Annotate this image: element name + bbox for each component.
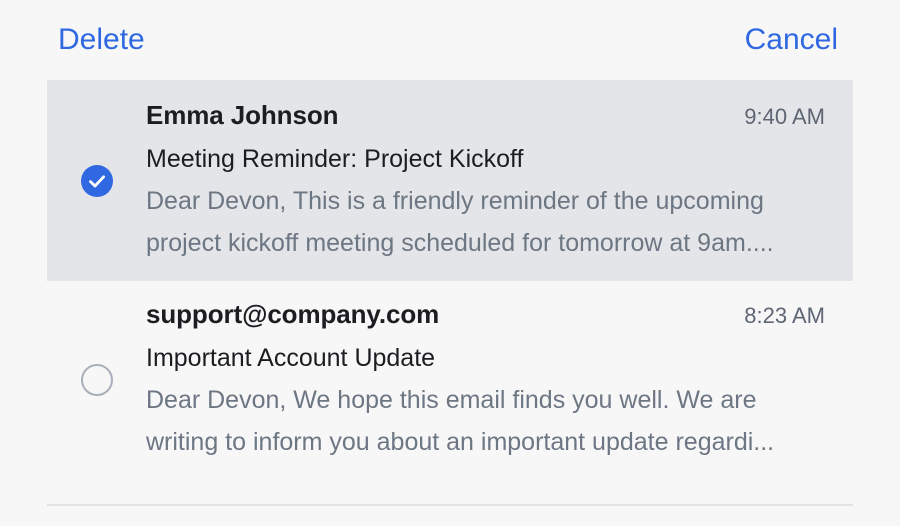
toolbar: Delete Cancel bbox=[0, 0, 900, 80]
selection-control-wrap bbox=[47, 165, 146, 197]
message-list-item[interactable]: Emma Johnson 9:40 AM Meeting Reminder: P… bbox=[47, 80, 853, 281]
message-time: 8:23 AM bbox=[726, 301, 853, 331]
list-divider bbox=[47, 504, 853, 506]
message-content: Emma Johnson 9:40 AM Meeting Reminder: P… bbox=[146, 98, 853, 264]
circle-outline-icon[interactable] bbox=[81, 364, 113, 396]
message-header: support@company.com 8:23 AM bbox=[146, 297, 853, 331]
delete-button[interactable]: Delete bbox=[58, 22, 145, 58]
message-list-item[interactable]: support@company.com 8:23 AM Important Ac… bbox=[47, 281, 853, 478]
message-content: support@company.com 8:23 AM Important Ac… bbox=[146, 297, 853, 463]
cancel-button[interactable]: Cancel bbox=[745, 22, 838, 58]
message-subject: Important Account Update bbox=[146, 341, 853, 375]
message-subject: Meeting Reminder: Project Kickoff bbox=[146, 142, 853, 176]
message-sender: support@company.com bbox=[146, 297, 439, 331]
message-list: Emma Johnson 9:40 AM Meeting Reminder: P… bbox=[0, 80, 900, 478]
message-preview: Dear Devon, This is a friendly reminder … bbox=[146, 180, 853, 264]
message-sender: Emma Johnson bbox=[146, 98, 338, 132]
email-selection-screen: Delete Cancel Emma Johnson 9:40 AM Meeti… bbox=[0, 0, 900, 526]
message-header: Emma Johnson 9:40 AM bbox=[146, 98, 853, 132]
message-time: 9:40 AM bbox=[726, 102, 853, 132]
check-circle-filled-icon[interactable] bbox=[81, 165, 113, 197]
message-preview: Dear Devon, We hope this email finds you… bbox=[146, 379, 853, 463]
selection-control-wrap bbox=[47, 364, 146, 396]
